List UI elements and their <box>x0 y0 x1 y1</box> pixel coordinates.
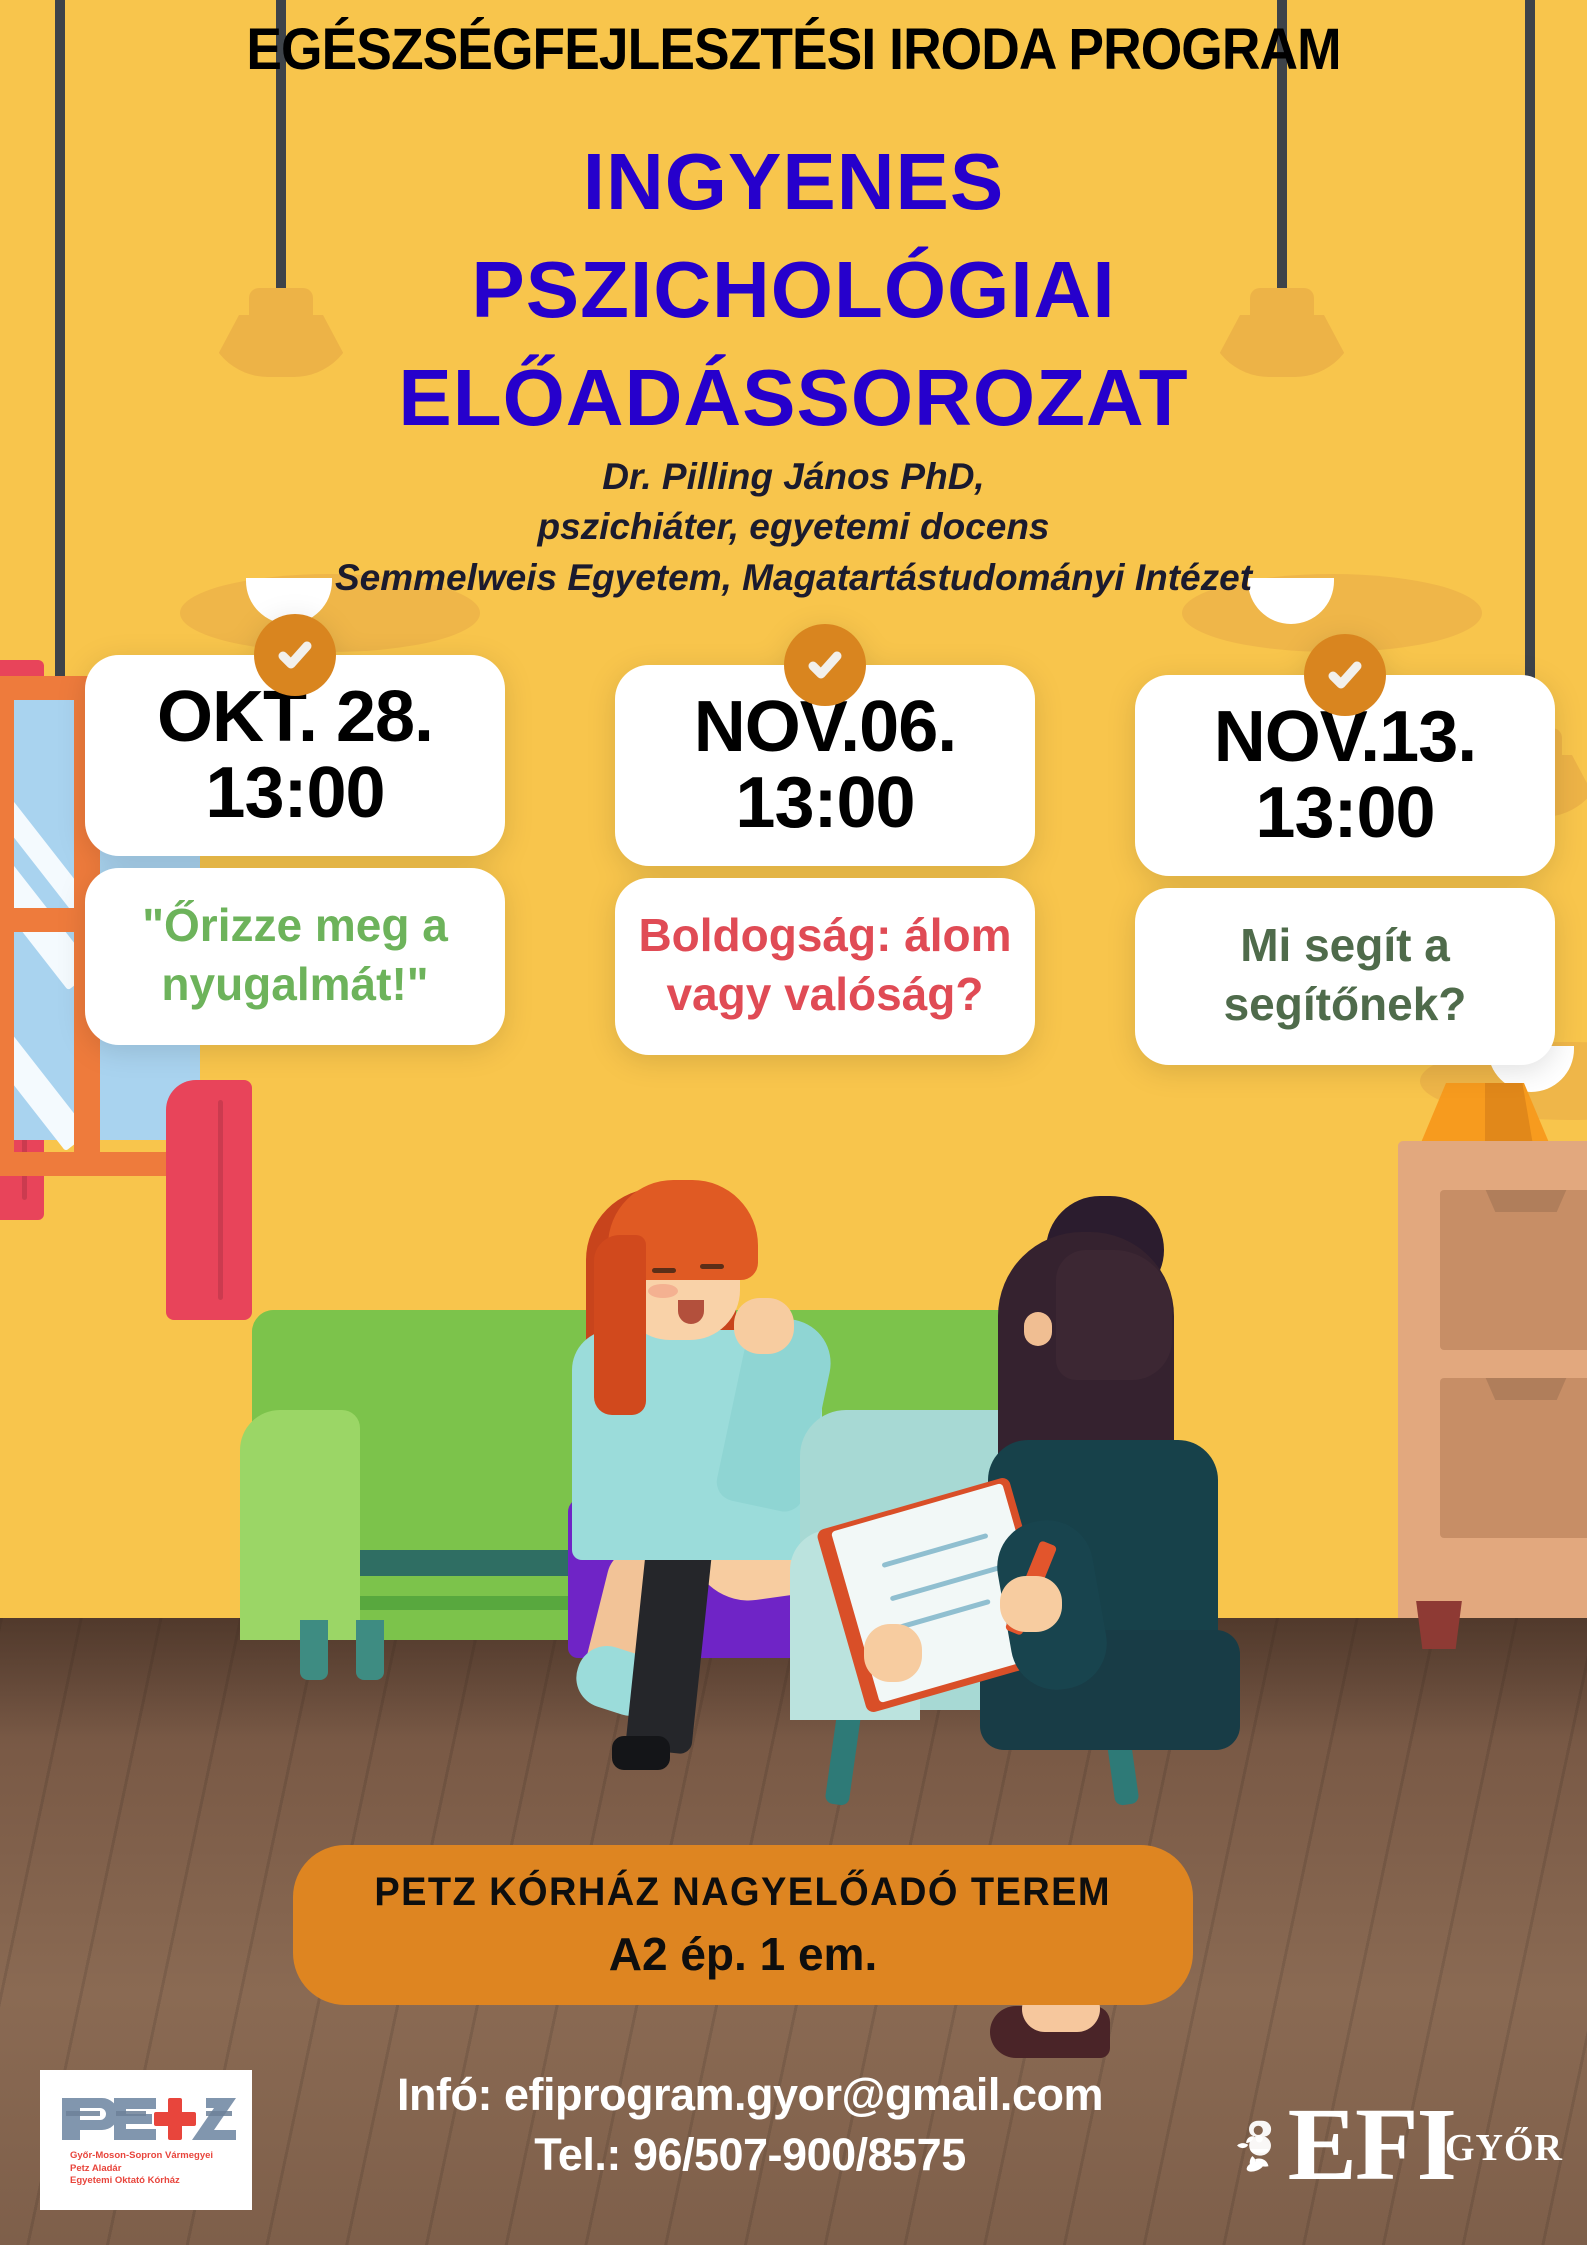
check-icon <box>1304 634 1386 716</box>
petz-sub-line-2: Petz Aladár <box>70 2163 246 2176</box>
client-hand <box>734 1298 794 1354</box>
page-title-line-1: INGYENES <box>0 140 1587 223</box>
client-eye <box>652 1268 676 1273</box>
nightstand-drawer <box>1440 1190 1587 1350</box>
event-topic-line-2: segítőnek? <box>1155 975 1535 1034</box>
nightstand-drawer <box>1440 1378 1587 1538</box>
event-card-3[interactable]: NOV.13. 13:00 Mi segít a segítőnek? <box>1135 675 1555 1065</box>
petz-sub-line-1: Győr-Moson-Sopron Vármegyei <box>70 2150 246 2163</box>
speaker-block: Dr. Pilling János PhD, pszichiáter, egye… <box>0 452 1587 603</box>
check-icon <box>254 614 336 696</box>
contact-phone[interactable]: Tel.: 96/507-900/8575 <box>300 2125 1200 2185</box>
client-hair-side <box>594 1235 646 1415</box>
efi-emblem-icon <box>1233 2089 1288 2201</box>
contact-email[interactable]: Infó: efiprogram.gyor@gmail.com <box>300 2065 1200 2125</box>
couch-leg <box>300 1620 328 1680</box>
event-topic-line-1: "Őrizze meg a <box>105 896 485 955</box>
program-kicker: EGÉSZSÉGFEJLESZTÉSI IRODA PROGRAM <box>63 16 1523 83</box>
couch-leg <box>356 1620 384 1680</box>
efi-gyor-logo: EFI GYŐR <box>1233 2070 1563 2220</box>
speaker-affiliation: Semmelweis Egyetem, Magatartástudományi … <box>0 553 1587 603</box>
therapist-hair-front <box>1056 1250 1172 1380</box>
client-blush <box>648 1284 678 1298</box>
petz-sub-line-3: Egyetemi Oktató Kórház <box>70 2175 246 2188</box>
petz-hospital-logo: Győr-Moson-Sopron Vármegyei Petz Aladár … <box>40 2070 252 2210</box>
venue-building: A2 ép. 1 em. <box>609 1927 877 1981</box>
event-card-3-topic: Mi segít a segítőnek? <box>1135 888 1555 1066</box>
curtain-right <box>166 1080 252 1320</box>
event-topic-line-1: Mi segít a <box>1155 916 1535 975</box>
contact-block: Infó: efiprogram.gyor@gmail.com Tel.: 96… <box>300 2065 1200 2186</box>
speaker-name: Dr. Pilling János PhD, <box>0 452 1587 502</box>
event-card-1-topic: "Őrizze meg a nyugalmát!" <box>85 868 505 1046</box>
efi-letters: EFI <box>1288 2093 1455 2197</box>
event-time: 13:00 <box>101 754 489 833</box>
poster-canvas: EGÉSZSÉGFEJLESZTÉSI IRODA PROGRAM INGYEN… <box>0 0 1587 2245</box>
couch-armrest <box>240 1410 360 1640</box>
check-icon <box>784 624 866 706</box>
event-time: 13:00 <box>1151 774 1539 853</box>
curtain-fold <box>218 1100 223 1300</box>
event-card-2-topic: Boldogság: álom vagy valóság? <box>615 878 1035 1056</box>
efi-city: GYŐR <box>1445 2126 1563 2170</box>
venue-room: PETZ KÓRHÁZ NAGYELŐADÓ TEREM <box>375 1870 1112 1915</box>
page-title-line-3: ELŐADÁSSOROZAT <box>0 356 1587 439</box>
speaker-role: pszichiáter, egyetemi docens <box>0 502 1587 552</box>
therapist-hand-holding-board <box>864 1624 922 1682</box>
therapist-hand <box>1000 1576 1062 1632</box>
petz-logo-subtitle: Győr-Moson-Sopron Vármegyei Petz Aladár … <box>46 2150 246 2188</box>
petz-wordmark-icon <box>56 2092 236 2144</box>
therapist-ear <box>1024 1312 1052 1346</box>
client-eye <box>700 1264 724 1269</box>
event-time: 13:00 <box>631 764 1019 843</box>
page-title-line-2: PSZICHOLÓGIAI <box>0 248 1587 331</box>
event-card-2[interactable]: NOV.06. 13:00 Boldogság: álom vagy valós… <box>615 665 1035 1055</box>
event-topic-line-2: vagy valóság? <box>635 965 1015 1024</box>
client-prosthetic-foot <box>612 1736 670 1770</box>
venue-banner: PETZ KÓRHÁZ NAGYELŐADÓ TEREM A2 ép. 1 em… <box>293 1845 1193 2005</box>
event-card-1[interactable]: OKT. 28. 13:00 "Őrizze meg a nyugalmát!" <box>85 655 505 1045</box>
event-topic-line-1: Boldogság: álom <box>635 906 1015 965</box>
event-topic-line-2: nyugalmát!" <box>105 955 485 1014</box>
